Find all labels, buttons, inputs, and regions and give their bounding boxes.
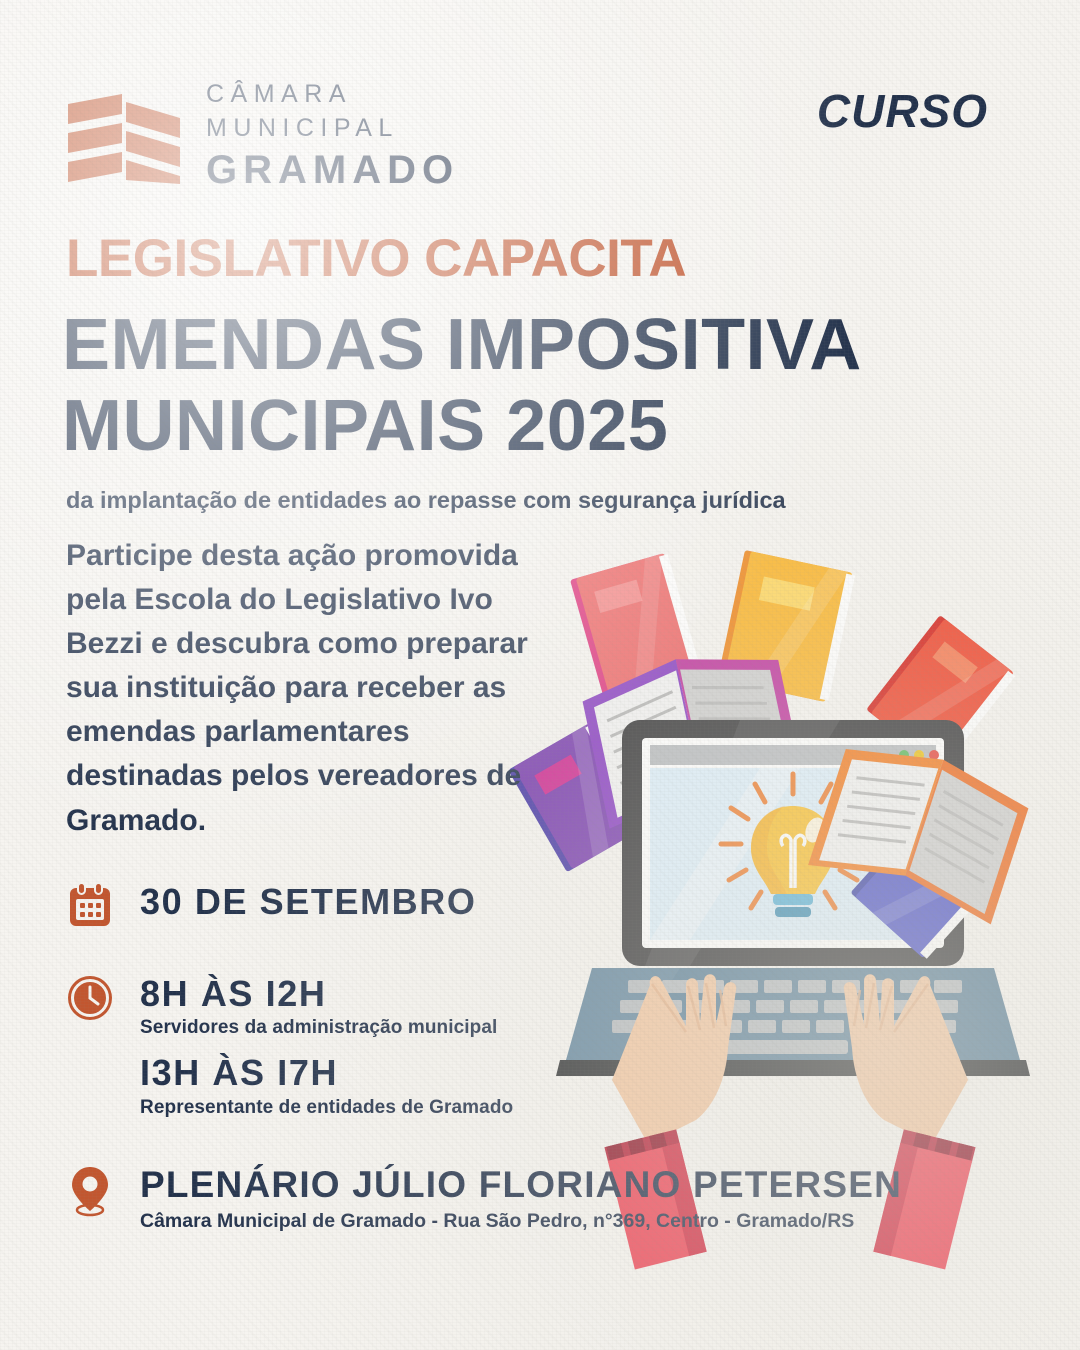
detail-body-location: PLENÁRIO JÚLIO FLORIANO PETERSEN Câmara … [140,1163,902,1234]
detail-row-location: PLENÁRIO JÚLIO FLORIANO PETERSEN Câmara … [62,1163,902,1234]
eyebrow-legislativo-capacita: LEGISLATIVO CAPACITA [66,228,686,289]
event-audience-morning: Servidores da administração municipal [140,1017,497,1039]
event-time-afternoon: I3H ÀS I7H [140,1053,902,1093]
map-pin-icon [62,1163,118,1217]
logo-line-gramado: GRAMADO [206,150,459,190]
detail-row-time-1: 8H ÀS I2H Servidores da administração mu… [62,972,902,1039]
clock-icon [62,972,118,1022]
logo-line-camara: CÂMARA [206,82,459,107]
event-details: 30 DE SETEMBRO 8H ÀS I2H Servidores da a… [62,880,902,1233]
event-audience-afternoon: Representante de entidades de Gramado [140,1097,902,1119]
lead-paragraph: Participe desta ação promovida pela Esco… [66,534,546,843]
headline-line-2: MUNICIPAIS 2025 [62,386,962,467]
poster-canvas: CÂMARA MUNICIPAL GRAMADO CURSO LEGISLATI… [0,0,1080,1350]
kicker-curso: CURSO [817,84,988,138]
headline-line-1: EMENDAS IMPOSITIVA [62,305,962,386]
venue-name: PLENÁRIO JÚLIO FLORIANO PETERSEN [140,1165,902,1206]
subtitle: da implantação de entidades ao repasse c… [66,487,786,514]
venue-address: Câmara Municipal de Gramado - Rua São Pe… [140,1210,902,1233]
detail-body-date: 30 DE SETEMBRO [140,880,476,922]
camara-municipal-gramado-logo-icon [66,88,184,184]
calendar-icon [62,880,118,930]
page-title: EMENDAS IMPOSITIVA MUNICIPAIS 2025 [62,305,962,466]
detail-row-date: 30 DE SETEMBRO [62,880,902,930]
logo-wordmark: CÂMARA MUNICIPAL GRAMADO [206,82,459,190]
logo-block: CÂMARA MUNICIPAL GRAMADO [66,82,459,190]
logo-line-municipal: MUNICIPAL [206,116,459,141]
detail-body-time-1: 8H ÀS I2H Servidores da administração mu… [140,972,497,1039]
event-date: 30 DE SETEMBRO [140,882,476,922]
event-time-morning: 8H ÀS I2H [140,974,497,1014]
detail-row-time-2: I3H ÀS I7H Representante de entidades de… [140,1053,902,1118]
